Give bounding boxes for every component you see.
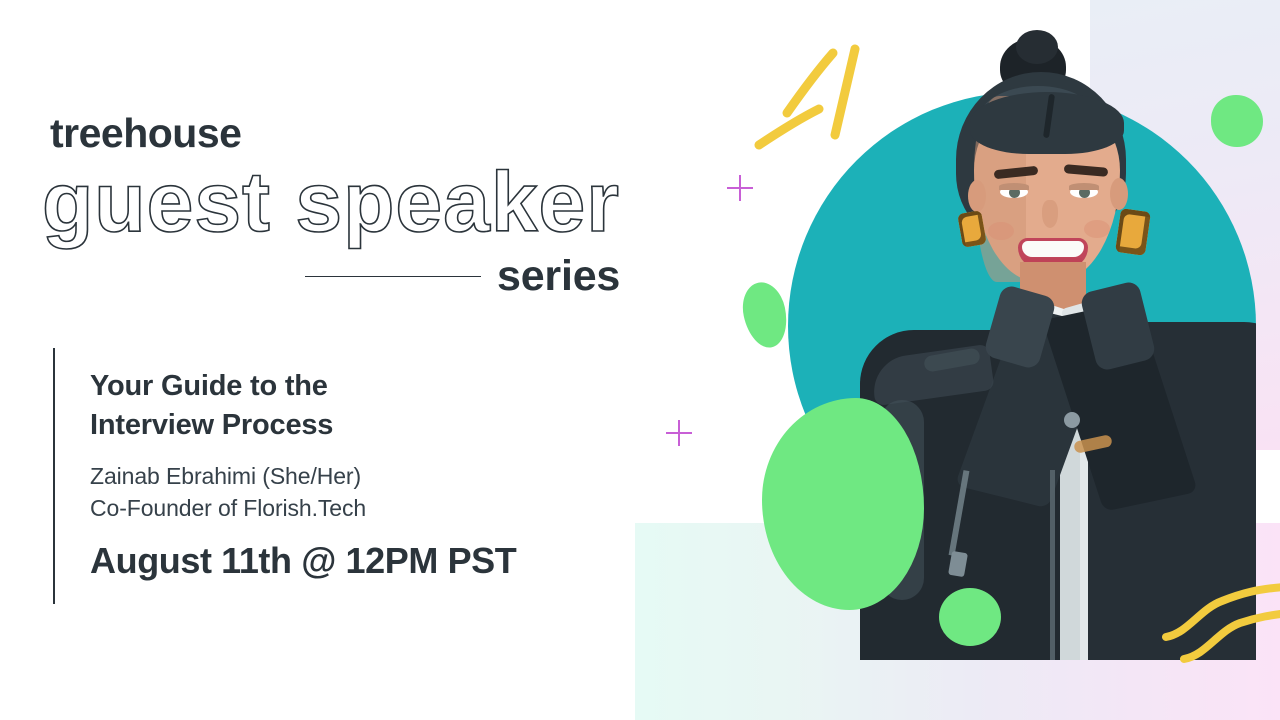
detail-vertical-rule (53, 348, 55, 604)
session-details: Your Guide to the Interview Process Zain… (90, 367, 520, 582)
brand-name: treehouse (50, 110, 241, 157)
yellow-sparkle-strokes-icon (745, 35, 890, 180)
session-title-line2: Interview Process (90, 406, 520, 445)
series-divider-rule (305, 276, 481, 278)
leopard-earring-icon (1115, 208, 1151, 256)
green-circle-dot-lower (939, 588, 1001, 646)
session-title-line1: Your Guide to the (90, 367, 520, 406)
series-label: series (497, 252, 620, 301)
green-pill-blob (738, 278, 793, 351)
promo-slide: treehouse guest speaker series Your Guid… (0, 0, 1280, 720)
yellow-squiggle-lines-icon (1160, 575, 1280, 665)
magenta-plus-icon-upper (727, 175, 753, 201)
program-title-outline: guest speaker (42, 158, 620, 246)
speaker-role: Co-Founder of Florish.Tech (90, 493, 520, 525)
series-row: series (305, 252, 620, 301)
magenta-plus-icon-lower (666, 420, 692, 446)
event-datetime: August 11th @ 12PM PST (90, 540, 520, 582)
speaker-name: Zainab Ebrahimi (She/Her) (90, 461, 520, 493)
